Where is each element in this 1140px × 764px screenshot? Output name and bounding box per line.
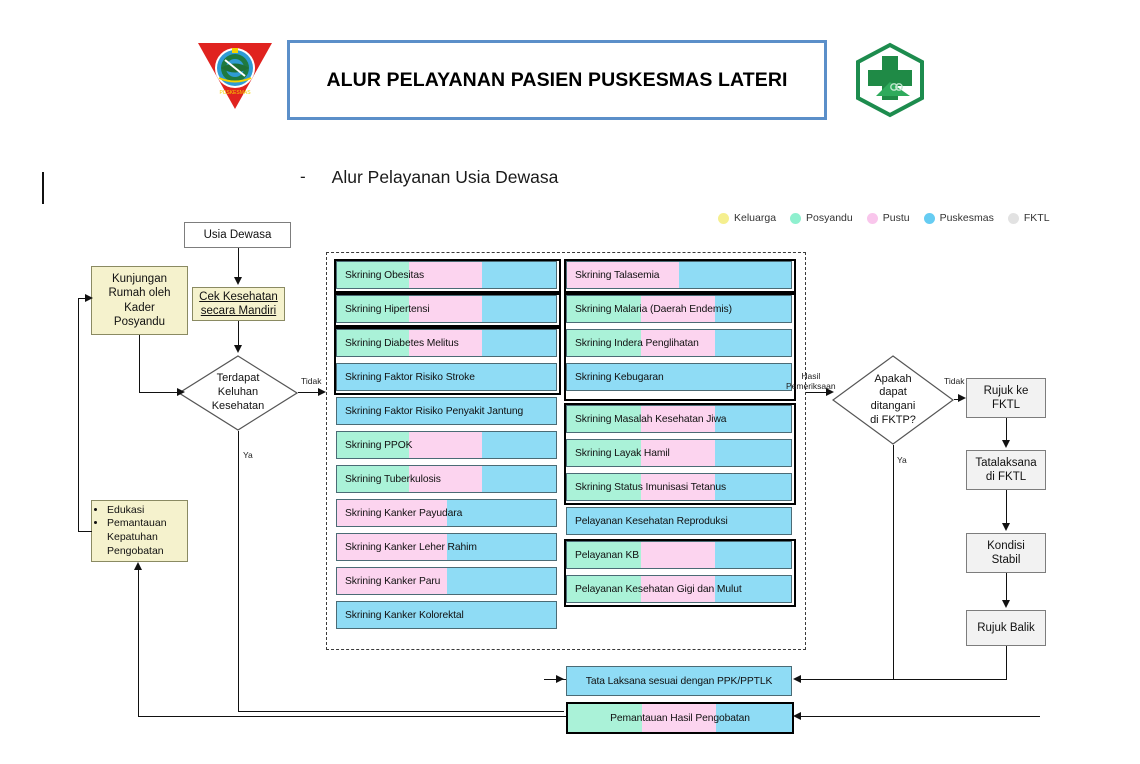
arrow-rujuk-to-tata [1002, 440, 1010, 448]
connector-balik-to-tata-laksana [800, 679, 1007, 680]
connector-rujuk-to-tata [1006, 418, 1007, 442]
flow-connectors: TidakYaHasilPemeriksaanTidakYa [0, 0, 1140, 764]
decision-terdapat-keluhan-label: TerdapatKeluhanKesehatan [212, 372, 265, 413]
connector-kunjungan-down [139, 335, 140, 393]
decision-apakah-fktp-label: Apakahdapatditanganidi FKTP? [870, 373, 916, 428]
connector-keluhan-ya-right [238, 711, 564, 712]
arrow-keluhan-to-matrix [318, 388, 326, 396]
arrow-kunjungan-to-keluhan [177, 388, 185, 396]
arrow-kondisi-to-balik [1002, 600, 1010, 608]
arrow-into-pemantauan [793, 712, 801, 720]
connector-into-pemantauan-right [800, 716, 1040, 717]
edge-label-hasil-pemeriksaan: HasilPemeriksaan [786, 372, 836, 392]
arrow-edukasi-to-kunjungan [85, 294, 93, 302]
arrow-usia-to-cek [234, 277, 242, 285]
arrow-into-tata-laksana [556, 675, 564, 683]
bottom-bar-label: Tata Laksana sesuai dengan PPK/PPTLK [567, 667, 791, 695]
edge-label-ya-keluhan: Ya [243, 450, 253, 460]
connector-tata-to-kondisi [1006, 490, 1007, 525]
arrow-fktp-to-rujuk [958, 394, 966, 402]
connector-fktp-ya-down [893, 445, 894, 679]
arrow-tata-to-kondisi [1002, 523, 1010, 531]
bottom-bar-tata-laksana: Tata Laksana sesuai dengan PPK/PPTLK [566, 666, 792, 696]
arrow-pemantauan-to-edukasi [134, 562, 142, 570]
connector-usia-to-cek [238, 248, 239, 279]
connector-cek-to-keluhan [238, 321, 239, 347]
connector-pemantauan-up [138, 570, 139, 717]
connector-pemantauan-left [138, 716, 566, 717]
connector-edukasi-left [78, 531, 92, 532]
connector-keluhan-ya-down [238, 431, 239, 712]
connector-kunjungan-right [139, 392, 181, 393]
arrow-balik-to-tata-laksana [793, 675, 801, 683]
connector-balik-down [1006, 646, 1007, 680]
bottom-bar-label: Pemantauan Hasil Pengobatan [568, 704, 792, 732]
arrow-cek-to-keluhan [234, 345, 242, 353]
edge-label-tidak-fktp: Tidak [944, 376, 964, 386]
edge-label-tidak-keluhan: Tidak [301, 376, 321, 386]
edge-label-ya-fktp: Ya [897, 455, 907, 465]
connector-kondisi-to-balik [1006, 573, 1007, 602]
bottom-bar-pemantauan: Pemantauan Hasil Pengobatan [566, 702, 794, 734]
connector-edukasi-up [78, 298, 79, 532]
